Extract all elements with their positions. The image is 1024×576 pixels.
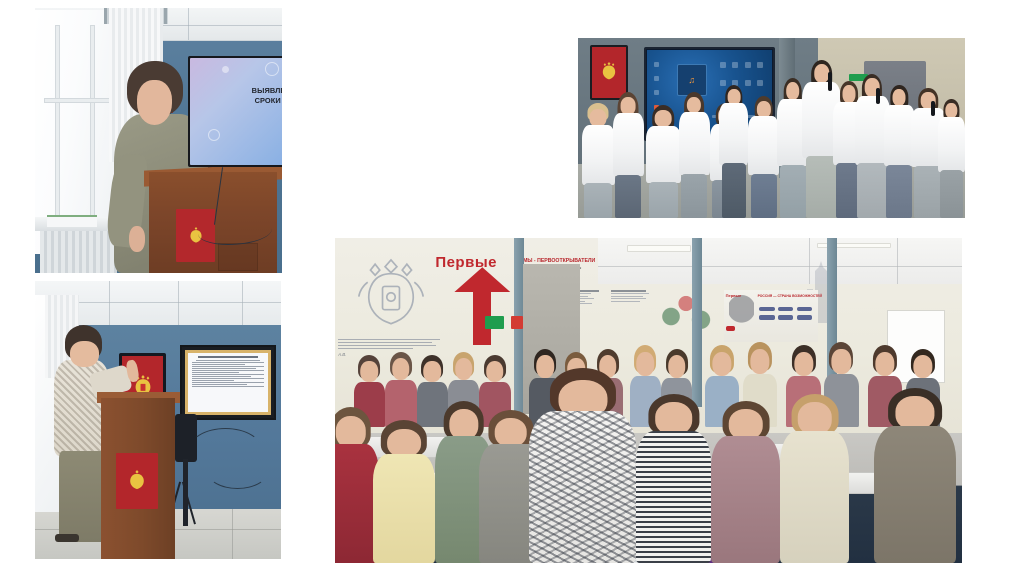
slogan-line-1: МЫ - ПЕРВООТКРЫВАТЕЛИ — [523, 258, 595, 264]
attendee-front-row-foreground — [529, 368, 636, 563]
photo-audience-classroom[interactable]: Первые МЫ - ПЕРВООТКРЫВАТЕЛИ мира и гото… — [335, 238, 962, 563]
slide-title: ВЫЯВЛЕНИЕ ДЕТЕЙ С ОВЗ, СРОКИ НАПРАВЛЕНИЯ… — [204, 86, 282, 118]
attendee-front-row — [636, 394, 711, 563]
banner-column — [611, 290, 654, 326]
collage-canvas: ВЫЯВЛЕНИЕ ДЕТЕЙ С ОВЗ, СРОКИ НАПРАВЛЕНИЯ… — [0, 0, 1024, 576]
child-singer — [679, 92, 710, 218]
secondary-banner-heading: Первые — [726, 293, 742, 298]
presentation-screen[interactable]: ВЫЯВЛЕНИЕ ДЕТЕЙ С ОВЗ, СРОКИ НАПРАВЛЕНИЯ… — [188, 56, 282, 167]
fire-alarm-icon — [511, 316, 524, 329]
photo-presenter-podium[interactable]: ВЫЯВЛЕНИЕ ДЕТЕЙ С ОВЗ, СРОКИ НАПРАВЛЕНИЯ… — [35, 8, 282, 273]
russian-coat-of-arms-outline-icon — [348, 251, 436, 342]
bubble-decoration — [208, 129, 220, 141]
child-singer — [719, 85, 748, 218]
photo-children-choir[interactable]: ♫ — [578, 38, 965, 218]
structural-pillar — [692, 238, 702, 407]
child-singer — [646, 105, 681, 218]
secondary-banner-title: РОССИЯ — СТРАНА ВОЗМОЖНОСТЕЙ — [758, 294, 822, 298]
arrow-up-icon — [454, 267, 510, 345]
attendee-front-row — [711, 401, 780, 564]
exit-sign-icon — [485, 316, 504, 329]
child-singer — [582, 103, 615, 218]
radiator — [40, 231, 117, 273]
child-singer — [613, 92, 644, 218]
secondary-banner: Первые РОССИЯ — СТРАНА ВОЗМОЖНОСТЕЙ — [724, 290, 818, 342]
child-singer — [938, 99, 965, 218]
slide-title-line-3: ПМПК — [204, 107, 282, 118]
microphone-icon — [876, 88, 880, 104]
microphone-icon — [931, 101, 935, 115]
bubble-decoration — [265, 62, 279, 76]
projection-screen[interactable] — [180, 345, 276, 420]
child-singer — [748, 96, 779, 218]
attendee-front-row — [373, 420, 436, 563]
document-on-screen — [188, 353, 268, 412]
attendee-front-row — [874, 388, 956, 564]
attendee-front-row — [780, 394, 849, 563]
attendee — [385, 352, 416, 427]
papers-on-sill — [47, 215, 96, 226]
bubble-decoration — [222, 66, 229, 73]
podium-emblem-icon — [116, 453, 158, 509]
ceiling — [598, 238, 962, 284]
microphone-icon — [828, 72, 832, 91]
slide-title-line-2: СРОКИ НАПРАВЛЕНИЯ НА — [204, 96, 282, 107]
screen-cable — [207, 453, 268, 488]
collage-caption: Фотоколлаж семинара — [0, 0, 1, 1]
folk-ornament-decoration — [661, 271, 711, 336]
slide-title-line-1: ВЫЯВЛЕНИЕ ДЕТЕЙ С ОВЗ, — [204, 86, 282, 97]
photo-presenter-pointing[interactable] — [35, 281, 281, 559]
